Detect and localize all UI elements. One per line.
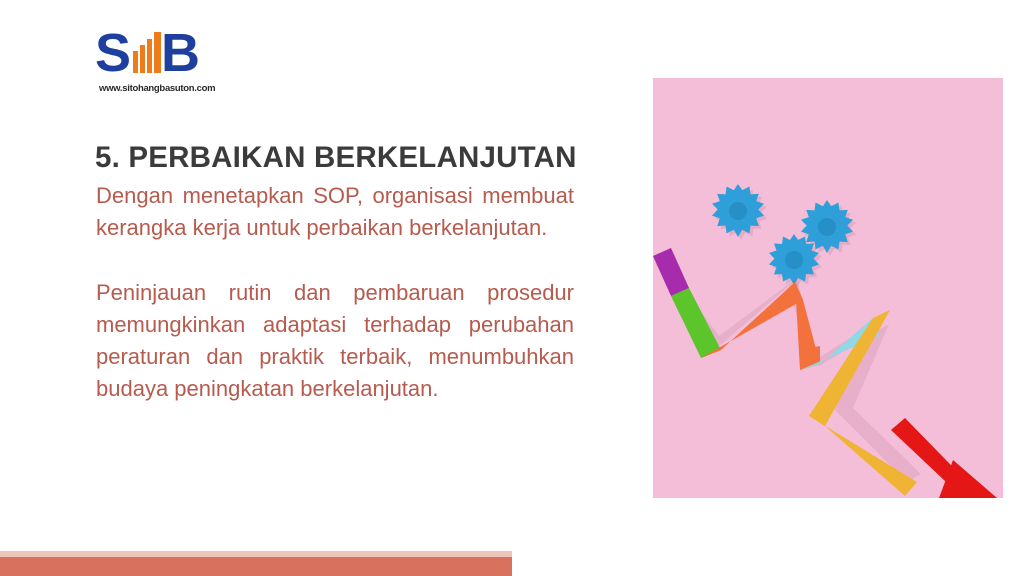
company-logo: S B www.sitohangbasuton.com [95,26,225,104]
footer-bar [0,557,512,576]
slide-canvas: S B www.sitohangbasuton.com 5. PERBAIKAN… [0,0,1024,576]
body-copy: Dengan menetapkan SOP, organisasi membua… [96,180,574,405]
page-title: 5. PERBAIKAN BERKELANJUTAN [95,141,665,175]
logo-tagline: www.sitohangbasuton.com [99,83,215,94]
paragraph-1: Dengan menetapkan SOP, organisasi membua… [96,180,574,244]
logo-mark-icon: S B [95,26,219,78]
papercraft-arrow-graphic [653,78,1003,498]
illustration-image [653,78,1003,498]
svg-text:S: S [95,26,131,78]
svg-text:B: B [161,26,200,78]
paragraph-2: Peninjauan rutin dan pembaruan prosedur … [96,277,574,405]
